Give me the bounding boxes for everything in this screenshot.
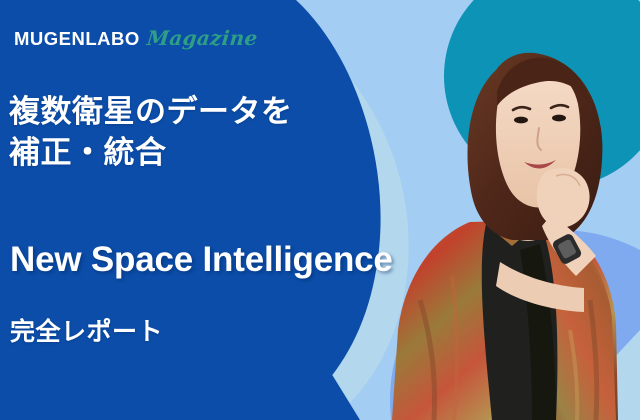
headline-text: 複数衛星のデータを 補正・統合 [9, 92, 293, 174]
subtitle-text: 完全レポート [10, 312, 163, 348]
logo-sub-text: Magazine [146, 26, 259, 50]
magazine-banner: MUGENLABO Magazine 複数衛星のデータを 補正・統合 New S… [0, 0, 640, 420]
banner-content: MUGENLABO Magazine 複数衛星のデータを 補正・統合 New S… [0, 0, 640, 420]
brand-logo[interactable]: MUGENLABO Magazine [14, 26, 257, 50]
logo-main-text: MUGENLABO [14, 28, 140, 50]
english-title: New Space Intelligence [10, 240, 393, 280]
